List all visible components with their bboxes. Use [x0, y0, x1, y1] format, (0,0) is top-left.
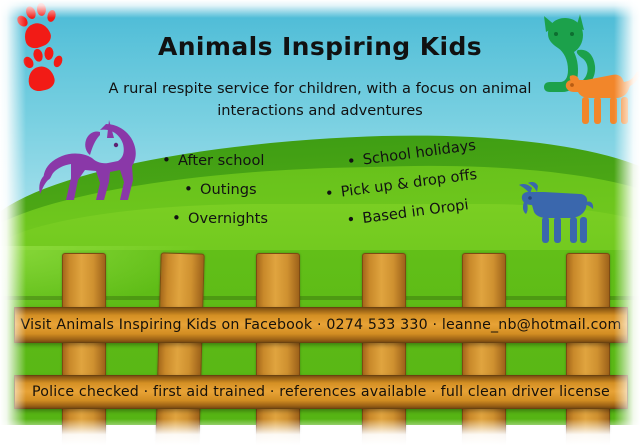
goat-silhouette-icon [514, 182, 596, 252]
list-item: After school [178, 152, 268, 169]
list-item: Outings [200, 181, 268, 198]
credentials-banner-text: Police checked · first aid trained · ref… [32, 384, 610, 400]
list-item: Based in Oropi [361, 194, 484, 227]
services-list-right: School holidays Pick up & drop offs Base… [336, 137, 486, 242]
unicorn-silhouette-icon [38, 108, 150, 216]
contact-banner: Visit Animals Inspiring Kids on Facebook… [14, 307, 628, 343]
fence-post [566, 253, 610, 445]
fence-post [155, 252, 204, 445]
credentials-banner: Police checked · first aid trained · ref… [14, 375, 628, 409]
services-list-left: After school Outings Overnights [178, 152, 268, 239]
list-item: Pick up & drop offs [340, 166, 481, 201]
flyer-canvas: Animals Inspiring Kids A rural respite s… [0, 0, 640, 445]
page-title: Animals Inspiring Kids [0, 32, 640, 61]
fence-post [462, 253, 506, 445]
contact-banner-text: Visit Animals Inspiring Kids on Facebook… [21, 317, 622, 333]
list-item: Overnights [188, 210, 268, 227]
fence-post [256, 253, 300, 445]
fence-post [62, 253, 106, 445]
page-subtitle: A rural respite service for children, wi… [92, 78, 548, 122]
fence-post [362, 253, 406, 445]
dog-silhouette-icon [564, 70, 640, 130]
